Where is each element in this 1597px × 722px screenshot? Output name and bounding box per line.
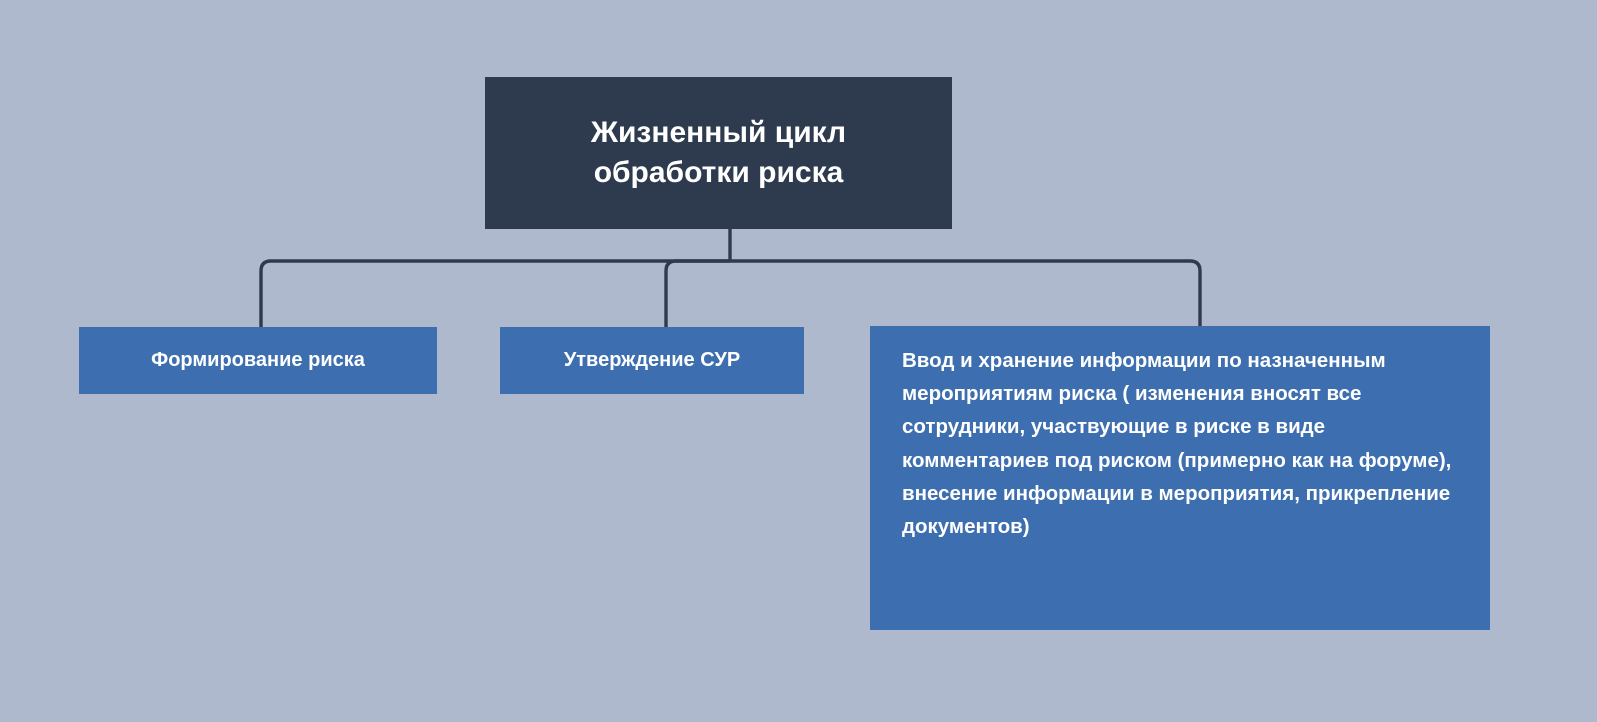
diagram-canvas: Жизненный цикл обработки риска Формирова… (0, 0, 1597, 722)
node-root-label: Жизненный цикл обработки риска (503, 113, 934, 192)
node-child-info-entry-storage: Ввод и хранение информации по назначенны… (870, 326, 1490, 630)
connector-branch-left (261, 261, 730, 327)
node-child-2-label: Утверждение СУР (500, 349, 804, 372)
node-child-risk-formation: Формирование риска (79, 327, 437, 394)
node-child-sur-approval: Утверждение СУР (500, 327, 804, 394)
node-child-1-label: Формирование риска (79, 349, 437, 372)
node-child-3-label: Ввод и хранение информации по назначенны… (902, 344, 1458, 543)
node-root-lifecycle: Жизненный цикл обработки риска (485, 77, 952, 229)
connector-branch-middle (666, 261, 1200, 327)
